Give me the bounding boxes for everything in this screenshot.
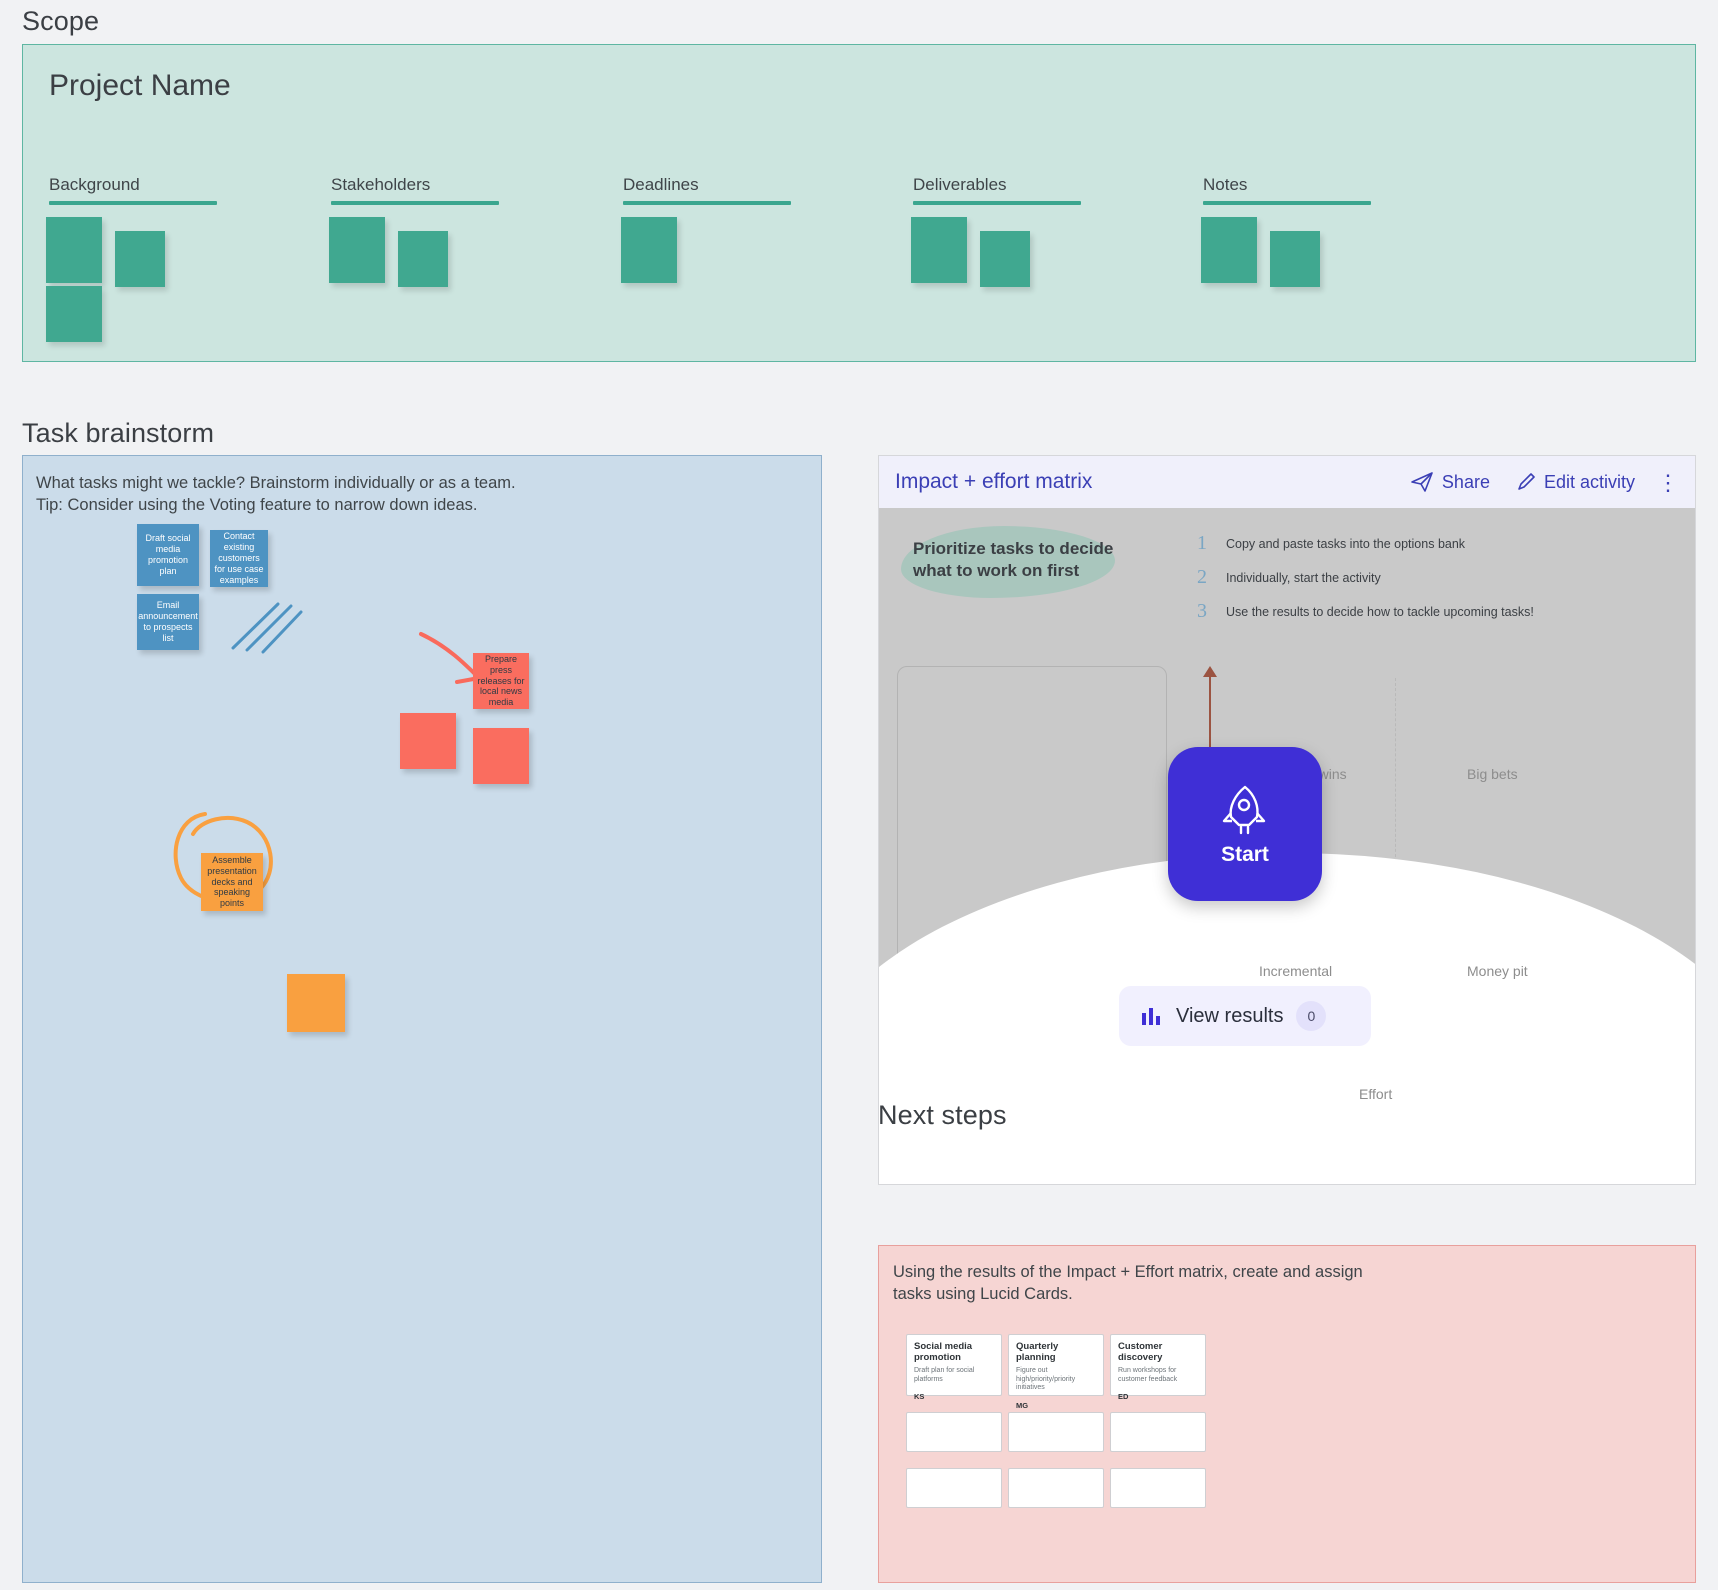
start-label: Start	[1221, 843, 1269, 867]
lucid-card-blank[interactable]	[1110, 1412, 1206, 1452]
step-text: Use the results to decide how to tackle …	[1226, 601, 1534, 619]
sticky-note[interactable]	[980, 231, 1030, 287]
edit-activity-label: Edit activity	[1544, 472, 1635, 493]
lucid-card-title: Customer discovery	[1118, 1341, 1198, 1363]
lucid-card-assignee: KS	[914, 1392, 994, 1401]
matrix-step: 2 Individually, start the activity	[1197, 567, 1534, 587]
sticky-note-email-announcement[interactable]: Email announcement to prospects list	[137, 594, 199, 650]
sticky-note[interactable]	[1270, 231, 1320, 287]
lucid-card-assignee: ED	[1118, 1392, 1198, 1401]
quadrant-label-incremental: Incremental	[1259, 963, 1332, 979]
sticky-note[interactable]	[911, 217, 967, 283]
sticky-note[interactable]	[621, 217, 677, 283]
lucid-card-description: Run workshops for customer feedback	[1118, 1367, 1198, 1384]
matrix-step: 3 Use the results to decide how to tackl…	[1197, 601, 1534, 621]
sticky-note[interactable]	[46, 217, 102, 283]
step-number: 1	[1197, 533, 1213, 553]
scope-column-rule	[913, 201, 1081, 205]
matrix-title: Impact + effort matrix	[895, 470, 1384, 494]
scope-column-rule	[1203, 201, 1371, 205]
scope-column-label-stakeholders: Stakeholders	[331, 175, 430, 200]
impact-effort-matrix-card: Impact + effort matrix Share Edit activi…	[878, 455, 1696, 1185]
paper-plane-icon	[1410, 471, 1434, 493]
lucid-card-blank[interactable]	[1008, 1468, 1104, 1508]
bar-chart-icon	[1139, 1004, 1163, 1028]
task-brainstorm-frame: What tasks might we tackle? Brainstorm i…	[22, 455, 822, 1583]
lucid-card-quarterly-planning[interactable]: Quarterly planning Figure out high/prior…	[1008, 1334, 1104, 1396]
matrix-body: Prioritize tasks to decide what to work …	[879, 508, 1695, 1184]
scope-column-rule	[331, 201, 499, 205]
step-text: Copy and paste tasks into the options ba…	[1226, 533, 1465, 551]
sticky-note-contact-existing-customers[interactable]: Contact existing customers for use case …	[210, 530, 268, 587]
lucid-card-assignee: MG	[1016, 1401, 1096, 1410]
sticky-note[interactable]	[329, 217, 385, 283]
scope-column-rule	[49, 201, 217, 205]
scope-column-label-notes: Notes	[1203, 175, 1247, 200]
step-number: 2	[1197, 567, 1213, 587]
lucid-card-customer-discovery[interactable]: Customer discovery Run workshops for cus…	[1110, 1334, 1206, 1396]
sticky-note-prepare-press-releases[interactable]: Prepare press releases for local news me…	[473, 653, 529, 709]
matrix-step: 1 Copy and paste tasks into the options …	[1197, 533, 1534, 553]
step-text: Individually, start the activity	[1226, 567, 1381, 585]
sticky-note[interactable]	[46, 286, 102, 342]
sticky-note[interactable]	[398, 231, 448, 287]
sticky-note-red-blank-1[interactable]	[400, 713, 456, 769]
more-options-icon[interactable]: ⋮	[1657, 477, 1679, 488]
quadrant-label-big-bets: Big bets	[1467, 766, 1518, 782]
lucid-card-blank[interactable]	[906, 1412, 1002, 1452]
lucid-card-description: Draft plan for social platforms	[914, 1367, 994, 1384]
share-button[interactable]: Share	[1410, 471, 1490, 493]
task-brainstorm-section-title: Task brainstorm	[22, 418, 214, 449]
share-label: Share	[1442, 472, 1490, 493]
rocket-icon	[1215, 781, 1275, 837]
sticky-note-red-blank-2[interactable]	[473, 728, 529, 784]
lucid-card-blank[interactable]	[906, 1468, 1002, 1508]
brainstorm-instructions-line-1: What tasks might we tackle? Brainstorm i…	[36, 472, 516, 494]
sticky-note[interactable]	[1201, 217, 1257, 283]
sticky-note-orange-blank[interactable]	[287, 974, 345, 1032]
blue-ink-strokes-icon	[223, 596, 303, 656]
edit-activity-button[interactable]: Edit activity	[1516, 472, 1635, 493]
lucid-card-title: Quarterly planning	[1016, 1341, 1096, 1363]
project-name: Project Name	[49, 69, 231, 103]
pencil-icon	[1516, 472, 1536, 492]
lucid-card-blank[interactable]	[1008, 1412, 1104, 1452]
matrix-header: Impact + effort matrix Share Edit activi…	[879, 456, 1695, 508]
sticky-note-assemble-presentation-decks[interactable]: Assemble presentation decks and speaking…	[201, 853, 263, 911]
view-results-count: 0	[1296, 1001, 1326, 1031]
lucid-card-description: Figure out high/priority/priority initia…	[1016, 1367, 1096, 1392]
sticky-note-draft-social-media[interactable]: Draft social media promotion plan	[137, 524, 199, 586]
next-steps-instructions: Using the results of the Impact + Effort…	[893, 1261, 1363, 1306]
brainstorm-instructions: What tasks might we tackle? Brainstorm i…	[36, 472, 516, 517]
next-steps-frame: Using the results of the Impact + Effort…	[878, 1245, 1696, 1583]
matrix-steps-list: 1 Copy and paste tasks into the options …	[1197, 533, 1534, 635]
view-results-button[interactable]: View results 0	[1119, 986, 1371, 1046]
next-steps-line-2: tasks using Lucid Cards.	[893, 1283, 1363, 1305]
next-steps-line-1: Using the results of the Impact + Effort…	[893, 1261, 1363, 1283]
scope-column-label-deliverables: Deliverables	[913, 175, 1007, 200]
lucid-card-social-media-promotion[interactable]: Social media promotion Draft plan for so…	[906, 1334, 1002, 1396]
lucid-card-title: Social media promotion	[914, 1341, 994, 1363]
whiteboard-canvas: Scope Project Name Background Stakeholde…	[0, 0, 1718, 1590]
start-activity-button[interactable]: Start	[1168, 747, 1322, 901]
effort-axis-label: Effort	[1359, 1086, 1392, 1102]
sticky-note[interactable]	[115, 231, 165, 287]
quadrant-label-money-pit: Money pit	[1467, 963, 1528, 979]
brainstorm-instructions-line-2: Tip: Consider using the Voting feature t…	[36, 494, 516, 516]
scope-section-title: Scope	[22, 6, 99, 37]
next-steps-section-title: Next steps	[878, 1100, 1007, 1131]
lucid-card-blank[interactable]	[1110, 1468, 1206, 1508]
view-results-label: View results	[1176, 1005, 1283, 1028]
scope-column-label-background: Background	[49, 175, 140, 200]
scope-column-label-deadlines: Deadlines	[623, 175, 699, 200]
step-number: 3	[1197, 601, 1213, 621]
matrix-headline: Prioritize tasks to decide what to work …	[913, 538, 1153, 583]
scope-frame: Project Name Background Stakeholders Dea…	[22, 44, 1696, 362]
scope-column-rule	[623, 201, 791, 205]
